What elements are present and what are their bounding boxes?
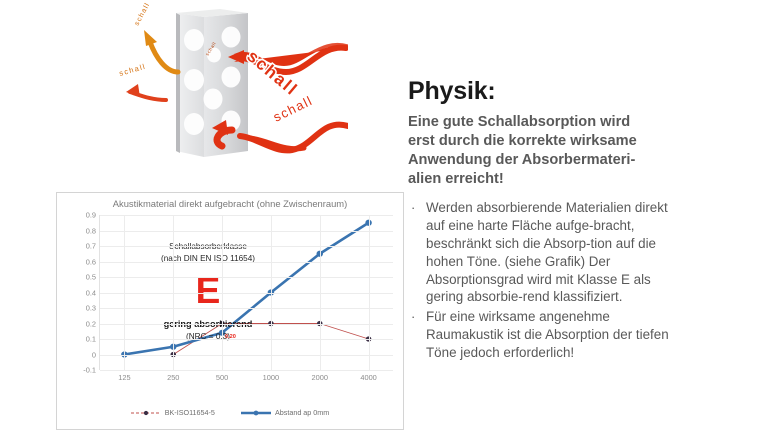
y-axis-tick: 0.6 <box>86 257 96 266</box>
y-axis-tick: 0.4 <box>86 288 96 297</box>
bullet-item: · Für eine wirksame angenehme Raumakusti… <box>408 308 756 362</box>
legend-entry: Abstand ap 0mm <box>241 408 329 417</box>
gridline-horizontal <box>100 355 393 356</box>
series-line <box>124 223 368 355</box>
acoustic-panel-illustration: schall schall schall schall schall schal… <box>108 0 348 182</box>
chart-legend: BK-ISO11654-5Abstand ap 0mm <box>57 408 403 417</box>
gridline-horizontal <box>100 277 393 278</box>
y-axis-tick: 0.2 <box>86 319 96 328</box>
y-axis-tick: 0.7 <box>86 242 96 251</box>
x-axis-tick: 4000 <box>360 373 376 382</box>
y-axis-tick: 0.9 <box>86 211 96 220</box>
legend-swatch <box>241 409 271 417</box>
plot-area: Schallabsorberklasse (nach DIN EN ISO 11… <box>99 215 393 370</box>
y-axis-tick: -0.1 <box>83 366 96 375</box>
gridline-horizontal <box>100 215 393 216</box>
sound-wave-reflected-orange <box>144 30 178 72</box>
bullet-text: Werden absorbierende Materialien direkt … <box>426 199 672 306</box>
schall-label-lower-right-fill: schall <box>271 93 316 125</box>
page-title: Physik: <box>408 78 756 106</box>
chart-title: Akustikmaterial direkt aufgebracht (ohne… <box>57 198 403 209</box>
gridline-horizontal <box>100 231 393 232</box>
gridline-vertical <box>369 215 370 370</box>
bullet-marker: · <box>408 199 426 306</box>
gridline-vertical <box>271 215 272 370</box>
bullet-marker: · <box>408 308 426 362</box>
schall-label-left: schall <box>118 62 147 78</box>
gridline-vertical <box>173 215 174 370</box>
legend-label: Abstand ap 0mm <box>275 408 329 417</box>
y-axis-tick: 0.8 <box>86 226 96 235</box>
x-axis-tick: 2000 <box>312 373 328 382</box>
schall-label-upper-left: schall <box>134 1 152 26</box>
intro-paragraph: Eine gute Schallabsorption wird erst dur… <box>408 113 658 189</box>
gridline-horizontal <box>100 308 393 309</box>
legend-swatch <box>131 409 161 417</box>
y-axis-tick: 0.3 <box>86 304 96 313</box>
x-axis-tick: 250 <box>167 373 179 382</box>
y-axis-tick: 0.5 <box>86 273 96 282</box>
legend-entry: BK-ISO11654-5 <box>131 408 215 417</box>
gridline-vertical <box>320 215 321 370</box>
x-axis-tick: 1000 <box>263 373 279 382</box>
plot-wrapper: Schallabsorberklasse (nach DIN EN ISO 11… <box>87 215 393 387</box>
x-axis-tick: 125 <box>118 373 130 382</box>
gridline-horizontal <box>100 324 393 325</box>
gridline-horizontal <box>100 246 393 247</box>
gridline-vertical <box>124 215 125 370</box>
x-axis-tick: 500 <box>216 373 228 382</box>
legend-label: BK-ISO11654-5 <box>165 408 215 417</box>
sound-wave-incoming-left <box>126 84 166 100</box>
bullet-text: Für eine wirksame angenehme Raumakustik … <box>426 308 672 362</box>
gridline-horizontal <box>100 339 393 340</box>
gridline-horizontal <box>100 262 393 263</box>
y-axis-tick: 0.1 <box>86 335 96 344</box>
gridline-vertical <box>222 215 223 370</box>
gridline-horizontal <box>100 293 393 294</box>
absorption-chart: Akustikmaterial direkt aufgebracht (ohne… <box>56 192 404 430</box>
gridline-horizontal <box>100 370 393 371</box>
bullet-item: · Werden absorbierende Materialien direk… <box>408 199 756 306</box>
text-column: Physik: Eine gute Schallabsorption wird … <box>408 78 756 364</box>
y-axis-tick: 0 <box>92 350 96 359</box>
